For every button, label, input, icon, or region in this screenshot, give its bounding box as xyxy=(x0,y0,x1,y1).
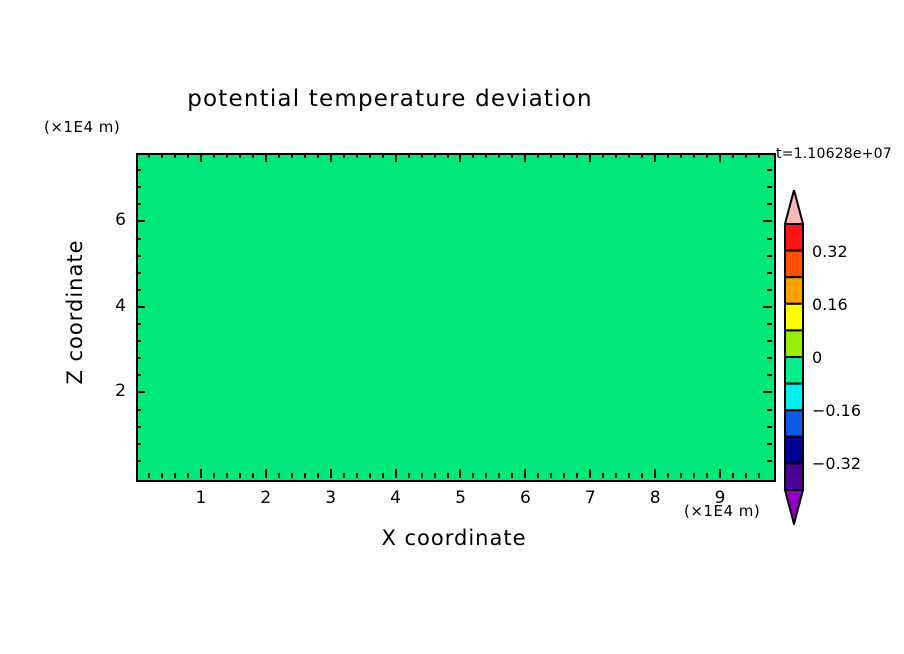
y-axis-minor-tick-right xyxy=(767,203,772,205)
y-axis-minor-tick-right xyxy=(767,169,772,171)
x-axis-minor-tick-top xyxy=(680,153,682,158)
x-axis-tick-top xyxy=(200,153,202,162)
y-axis-minor-tick-right xyxy=(767,238,772,240)
x-axis-tick-top xyxy=(654,153,656,162)
x-axis-tick-top xyxy=(524,153,526,162)
x-axis-minor-tick xyxy=(252,473,254,478)
x-axis-minor-tick-top xyxy=(550,153,552,158)
x-axis-minor-tick-top xyxy=(226,153,228,158)
x-axis-minor-tick xyxy=(615,473,617,478)
x-axis-minor-tick xyxy=(511,473,513,478)
x-axis-minor-tick xyxy=(174,473,176,478)
x-axis-minor-tick xyxy=(537,473,539,478)
colorbar-segment xyxy=(785,251,803,278)
x-axis-minor-tick-top xyxy=(252,153,254,158)
x-axis-minor-tick-top xyxy=(447,153,449,158)
x-axis-tick-label: 3 xyxy=(316,488,346,508)
x-axis-tick-label: 5 xyxy=(445,488,475,508)
x-axis-minor-tick-top xyxy=(498,153,500,158)
x-axis-tick-top xyxy=(265,153,267,162)
x-axis-minor-tick-top xyxy=(174,153,176,158)
x-axis-minor-tick xyxy=(628,473,630,478)
x-axis-minor-tick-top xyxy=(706,153,708,158)
x-axis-units-label: (×1E4 m) xyxy=(684,502,760,520)
y-axis-tick xyxy=(136,306,145,308)
x-axis-tick-label: 4 xyxy=(381,488,411,508)
y-axis-minor-tick-right xyxy=(767,186,772,188)
colorbar-segment xyxy=(785,224,803,251)
x-axis-minor-tick-top xyxy=(732,153,734,158)
colorbar-tick-label: −0.32 xyxy=(812,454,861,473)
x-axis-tick xyxy=(654,469,656,478)
y-axis-minor-tick-right xyxy=(767,255,772,257)
x-axis-minor-tick xyxy=(563,473,565,478)
page-title: potential temperature deviation xyxy=(0,86,780,112)
x-axis-minor-tick-top xyxy=(408,153,410,158)
x-axis-minor-tick-top xyxy=(161,153,163,158)
x-axis-minor-tick xyxy=(732,473,734,478)
y-axis-minor-tick-right xyxy=(767,426,772,428)
x-axis-minor-tick-top xyxy=(356,153,358,158)
plot-area xyxy=(136,153,776,482)
y-axis-tick-right xyxy=(763,391,772,393)
colorbar-under-range-cap xyxy=(785,490,803,524)
x-axis-minor-tick xyxy=(278,473,280,478)
y-axis-tick-label: 2 xyxy=(96,381,126,401)
x-axis-minor-tick xyxy=(291,473,293,478)
x-axis-minor-tick xyxy=(758,473,760,478)
y-axis-minor-tick-right xyxy=(767,460,772,462)
x-axis-minor-tick xyxy=(485,473,487,478)
x-axis-minor-tick xyxy=(317,473,319,478)
x-axis-minor-tick xyxy=(421,473,423,478)
colorbar-tick-label: −0.16 xyxy=(812,401,861,420)
x-axis-minor-tick-top xyxy=(667,153,669,158)
y-axis-minor-tick xyxy=(136,323,141,325)
x-axis-minor-tick xyxy=(213,473,215,478)
y-axis-minor-tick xyxy=(136,289,141,291)
contour-field-canvas xyxy=(138,155,774,480)
x-axis-minor-tick xyxy=(576,473,578,478)
y-axis-minor-tick-right xyxy=(767,374,772,376)
x-axis-tick-top xyxy=(589,153,591,162)
y-axis-minor-tick xyxy=(136,340,141,342)
x-axis-tick-label: 1 xyxy=(186,488,216,508)
colorbar-segment xyxy=(785,384,803,411)
y-axis-minor-tick xyxy=(136,238,141,240)
x-axis-minor-tick xyxy=(447,473,449,478)
y-axis-minor-tick xyxy=(136,255,141,257)
x-axis-minor-tick xyxy=(356,473,358,478)
x-axis-minor-tick-top xyxy=(602,153,604,158)
x-axis-minor-tick xyxy=(226,473,228,478)
x-axis-minor-tick-top xyxy=(343,153,345,158)
y-axis-minor-tick xyxy=(136,169,141,171)
y-axis-tick xyxy=(136,391,145,393)
x-axis-tick xyxy=(200,469,202,478)
x-axis-minor-tick-top xyxy=(537,153,539,158)
x-axis-minor-tick-top xyxy=(693,153,695,158)
y-axis-minor-tick-right xyxy=(767,323,772,325)
x-axis-tick-top xyxy=(395,153,397,162)
y-axis-minor-tick xyxy=(136,203,141,205)
y-axis-minor-tick xyxy=(136,443,141,445)
x-axis-minor-tick-top xyxy=(148,153,150,158)
colorbar-segment xyxy=(785,437,803,464)
x-axis-minor-tick xyxy=(343,473,345,478)
x-axis-minor-tick xyxy=(239,473,241,478)
y-axis-minor-tick-right xyxy=(767,340,772,342)
x-axis-minor-tick-top xyxy=(615,153,617,158)
y-axis-minor-tick xyxy=(136,426,141,428)
x-axis-minor-tick xyxy=(550,473,552,478)
y-axis-minor-tick-right xyxy=(767,272,772,274)
x-axis-title: X coordinate xyxy=(136,526,772,550)
x-axis-minor-tick-top xyxy=(304,153,306,158)
x-axis-minor-tick xyxy=(382,473,384,478)
x-axis-minor-tick xyxy=(161,473,163,478)
x-axis-minor-tick-top xyxy=(421,153,423,158)
y-axis-minor-tick-right xyxy=(767,357,772,359)
x-axis-tick-label: 6 xyxy=(510,488,540,508)
x-axis-minor-tick xyxy=(498,473,500,478)
x-axis-minor-tick-top xyxy=(317,153,319,158)
x-axis-minor-tick xyxy=(187,473,189,478)
x-axis-tick xyxy=(265,469,267,478)
x-axis-minor-tick-top xyxy=(434,153,436,158)
x-axis-minor-tick-top xyxy=(278,153,280,158)
y-axis-minor-tick xyxy=(136,272,141,274)
x-axis-tick-label: 7 xyxy=(575,488,605,508)
x-axis-minor-tick xyxy=(641,473,643,478)
y-axis-minor-tick-right xyxy=(767,409,772,411)
x-axis-minor-tick-top xyxy=(187,153,189,158)
x-axis-tick xyxy=(719,469,721,478)
x-axis-tick-top xyxy=(330,153,332,162)
x-axis-minor-tick xyxy=(369,473,371,478)
x-axis-minor-tick-top xyxy=(758,153,760,158)
x-axis-tick xyxy=(524,469,526,478)
x-axis-minor-tick xyxy=(602,473,604,478)
x-axis-minor-tick xyxy=(680,473,682,478)
colorbar-tick-label: 0 xyxy=(812,348,822,367)
colorbar xyxy=(783,190,805,525)
x-axis-tick-label: 2 xyxy=(251,488,281,508)
timestamp-label: t=1.10628e+07 xyxy=(776,146,904,162)
x-axis-minor-tick-top xyxy=(563,153,565,158)
y-axis-minor-tick xyxy=(136,374,141,376)
y-axis-tick-right xyxy=(763,220,772,222)
x-axis-minor-tick-top xyxy=(291,153,293,158)
colorbar-segment xyxy=(785,304,803,331)
x-axis-minor-tick-top xyxy=(641,153,643,158)
x-axis-minor-tick-top xyxy=(382,153,384,158)
x-axis-minor-tick-top xyxy=(511,153,513,158)
x-axis-minor-tick xyxy=(434,473,436,478)
x-axis-minor-tick xyxy=(667,473,669,478)
y-axis-minor-tick-right xyxy=(767,443,772,445)
colorbar-tick-label: 0.32 xyxy=(812,242,848,261)
x-axis-tick-top xyxy=(459,153,461,162)
colorbar-segment xyxy=(785,330,803,357)
x-axis-minor-tick xyxy=(304,473,306,478)
x-axis-minor-tick-top xyxy=(576,153,578,158)
x-axis-minor-tick-top xyxy=(472,153,474,158)
x-axis-minor-tick-top xyxy=(369,153,371,158)
x-axis-minor-tick xyxy=(693,473,695,478)
colorbar-segment xyxy=(785,277,803,304)
y-axis-minor-tick xyxy=(136,460,141,462)
colorbar-tick-label: 0.16 xyxy=(812,295,848,314)
y-axis-minor-tick xyxy=(136,409,141,411)
x-axis-tick xyxy=(330,469,332,478)
x-axis-minor-tick xyxy=(745,473,747,478)
x-axis-tick xyxy=(589,469,591,478)
x-axis-tick-top xyxy=(719,153,721,162)
x-axis-minor-tick xyxy=(472,473,474,478)
y-axis-tick-label: 4 xyxy=(96,296,126,316)
x-axis-minor-tick-top xyxy=(485,153,487,158)
y-axis-minor-tick xyxy=(136,357,141,359)
y-axis-minor-tick-right xyxy=(767,289,772,291)
x-axis-minor-tick-top xyxy=(745,153,747,158)
x-axis-minor-tick-top xyxy=(213,153,215,158)
z-axis-units-label: (×1E4 m) xyxy=(44,118,120,136)
x-axis-minor-tick-top xyxy=(239,153,241,158)
x-axis-minor-tick xyxy=(408,473,410,478)
y-axis-tick xyxy=(136,220,145,222)
y-axis-tick-right xyxy=(763,306,772,308)
x-axis-minor-tick-top xyxy=(628,153,630,158)
x-axis-tick-label: 8 xyxy=(640,488,670,508)
colorbar-over-range-cap xyxy=(785,190,803,224)
y-axis-title: Z coordinate xyxy=(63,222,87,402)
x-axis-tick xyxy=(459,469,461,478)
x-axis-minor-tick xyxy=(148,473,150,478)
colorbar-segment xyxy=(785,357,803,384)
colorbar-segment xyxy=(785,410,803,437)
x-axis-tick xyxy=(395,469,397,478)
x-axis-minor-tick xyxy=(706,473,708,478)
y-axis-minor-tick xyxy=(136,186,141,188)
y-axis-tick-label: 6 xyxy=(96,210,126,230)
colorbar-segment xyxy=(785,463,803,490)
